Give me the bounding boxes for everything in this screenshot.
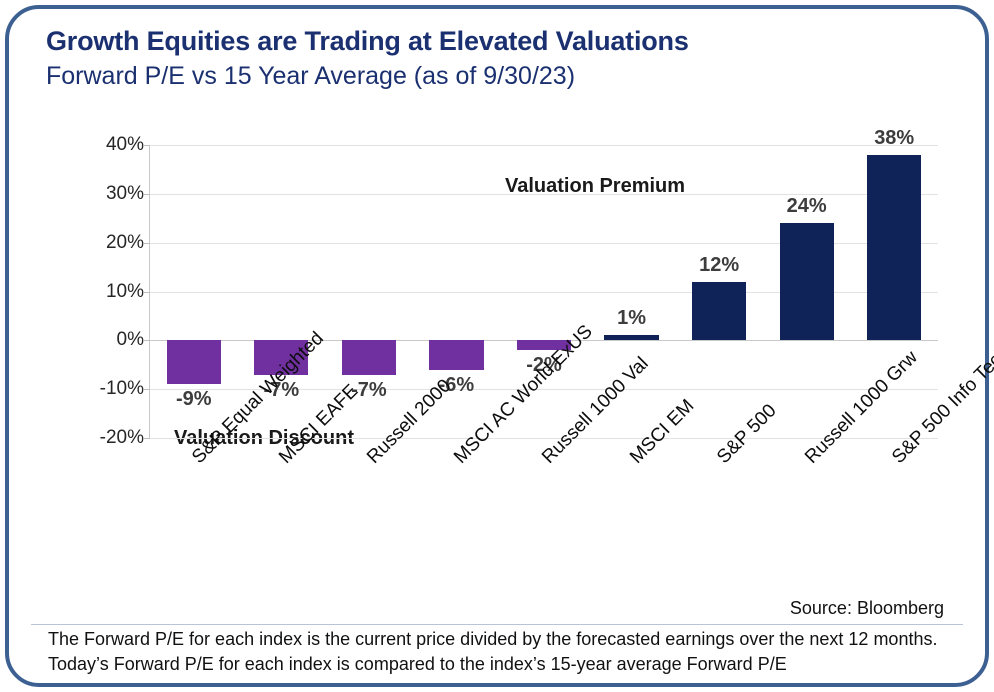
source-note: Source: Bloomberg: [790, 598, 944, 619]
footer-divider: [31, 624, 963, 625]
page-subtitle: Forward P/E vs 15 Year Average (as of 9/…: [46, 60, 926, 93]
bar-russell-2000[interactable]: [342, 340, 396, 374]
slide-canvas: Growth Equities are Trading at Elevated …: [0, 0, 994, 692]
bar-chart: 40%30%20%10%0%-10%-20% Valuation Premium…: [0, 118, 994, 458]
title-block: Growth Equities are Trading at Elevated …: [46, 24, 926, 93]
y-axis-tick: [143, 389, 150, 390]
bar-s-p-equal-weighted[interactable]: [167, 340, 221, 384]
y-axis-tick-label: -10%: [70, 378, 144, 400]
y-axis-tick: [143, 340, 150, 341]
footnote-line-1: The Forward P/E for each index is the cu…: [48, 629, 937, 650]
y-axis-tick-label: 0%: [70, 329, 144, 351]
x-axis-category-labels: S&P Equal WeightedMSCI EAFERussell 2000M…: [0, 118, 994, 298]
data-label: -9%: [150, 388, 238, 411]
y-axis-tick: [143, 438, 150, 439]
footnote-line-2: Today’s Forward P/E for each index is co…: [48, 654, 787, 675]
bar-msci-em[interactable]: [604, 335, 658, 340]
data-label: 1%: [588, 307, 676, 330]
bar-msci-ac-world-exus[interactable]: [429, 340, 483, 369]
y-axis-tick-label: -20%: [70, 427, 144, 449]
page-title: Growth Equities are Trading at Elevated …: [46, 24, 926, 58]
